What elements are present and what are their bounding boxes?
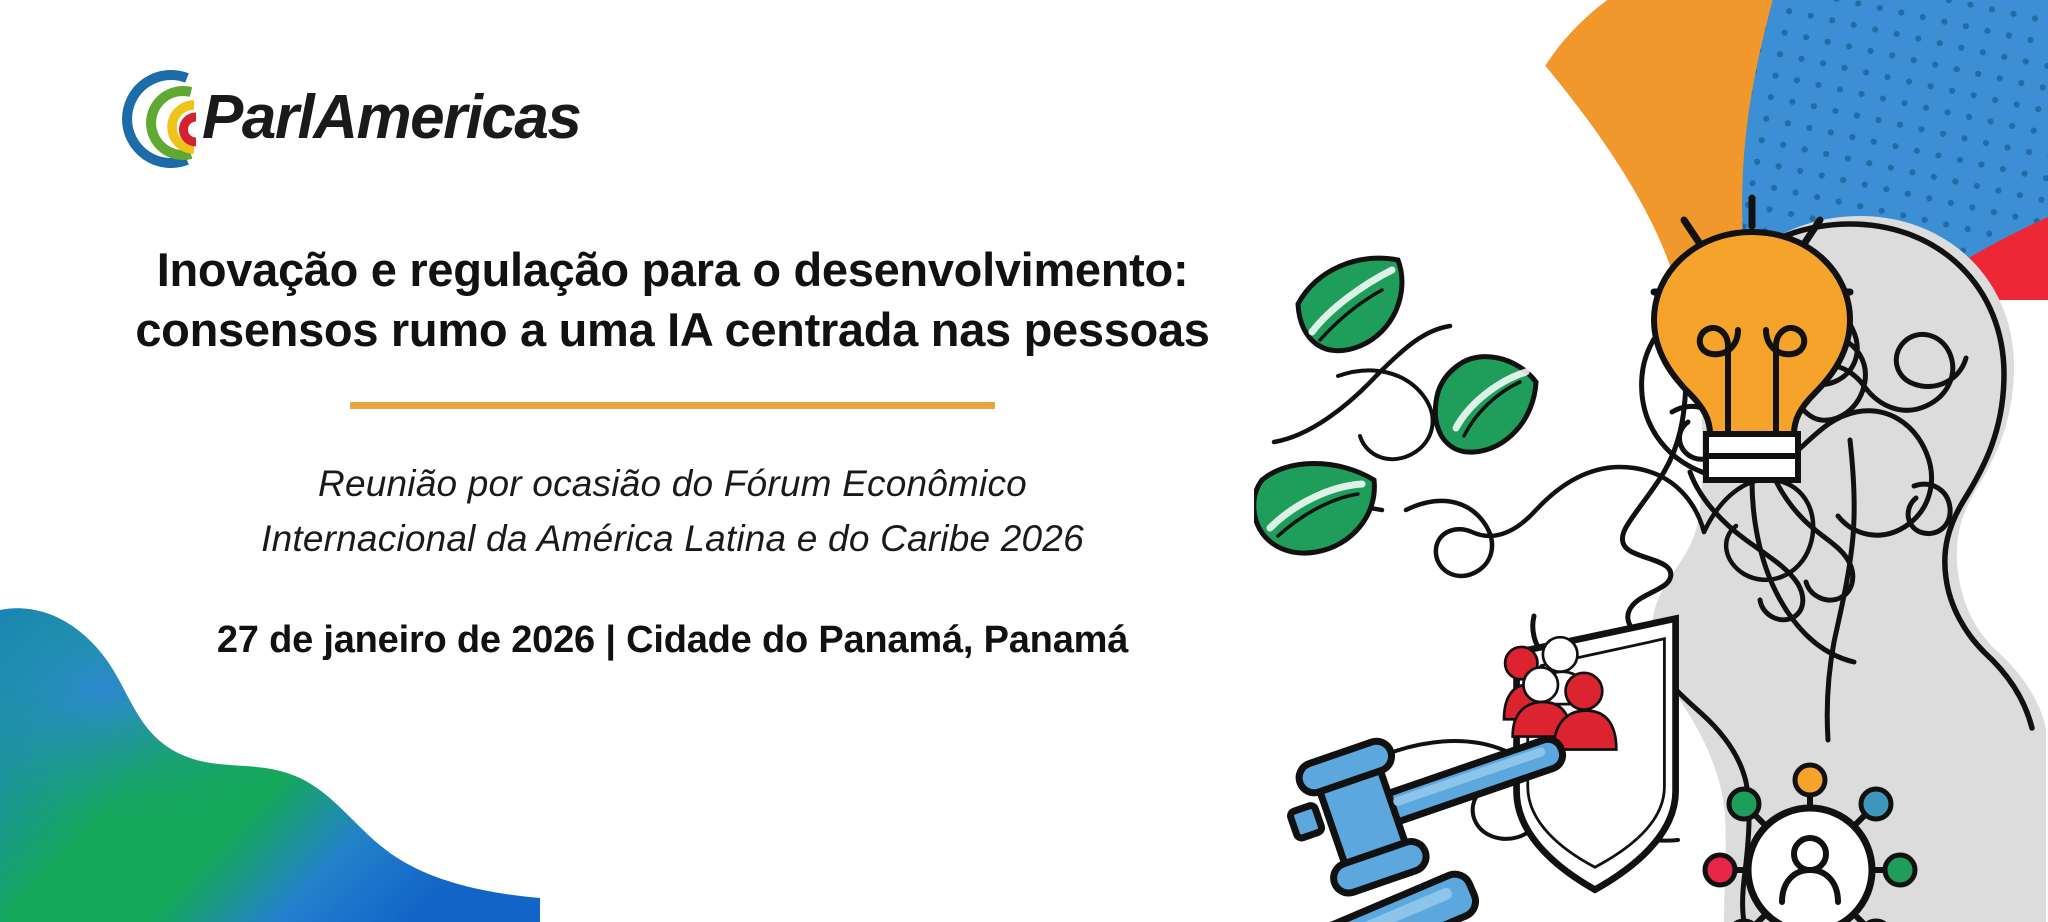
gavel-notch [1289, 804, 1323, 839]
leaf-sprig-icon [1254, 258, 1536, 553]
connector-ribbon [1338, 370, 1433, 459]
event-subtitle-line-1: Reunião por ocasião do Fórum Econômico [0, 457, 1345, 512]
network-node-right [1885, 855, 1915, 885]
page-title-line-2: consensos rumo a uma IA centrada nas pes… [120, 300, 1225, 360]
orange-divider [350, 402, 995, 409]
banner-text-column: Inovação e regulação para o desenvolvime… [0, 240, 1345, 662]
lightbulb-base-bottom [1706, 456, 1798, 480]
lightbulb-base-top [1706, 434, 1798, 456]
leaf-bottom [1254, 464, 1374, 554]
event-banner: ParlAmericas Inovação e regulação para o… [0, 0, 2048, 922]
event-date-location: 27 de janeiro de 2026 | Cidade do Panamá… [0, 619, 1345, 662]
logo-arc-red [184, 117, 197, 142]
person-back-head [1543, 637, 1578, 672]
page-title: Inovação e regulação para o desenvolvime… [0, 240, 1345, 360]
network-person-head [1794, 838, 1826, 870]
parlamericas-arcs-logo [88, 48, 204, 188]
network-node-top [1795, 765, 1825, 795]
event-subtitle-line-2: Internacional da América Latina e do Car… [0, 512, 1345, 567]
divider-wrapper [0, 402, 1345, 409]
network-node-top-right [1861, 789, 1891, 819]
event-subtitle: Reunião por ocasião do Fórum Econômico I… [0, 457, 1345, 567]
network-node-left [1705, 855, 1735, 885]
network-node-top-left [1729, 789, 1759, 819]
parlamericas-logo[interactable]: ParlAmericas [88, 48, 580, 188]
leaf-top [1298, 258, 1402, 351]
human-centered-ai-line-art [1254, 180, 2048, 922]
leaf-middle [1435, 357, 1536, 452]
page-title-line-1: Inovação e regulação para o desenvolvime… [120, 240, 1225, 300]
person-mid-head [1523, 667, 1558, 702]
person-front-head [1566, 673, 1603, 710]
logo-wordmark: ParlAmericas [202, 87, 580, 149]
